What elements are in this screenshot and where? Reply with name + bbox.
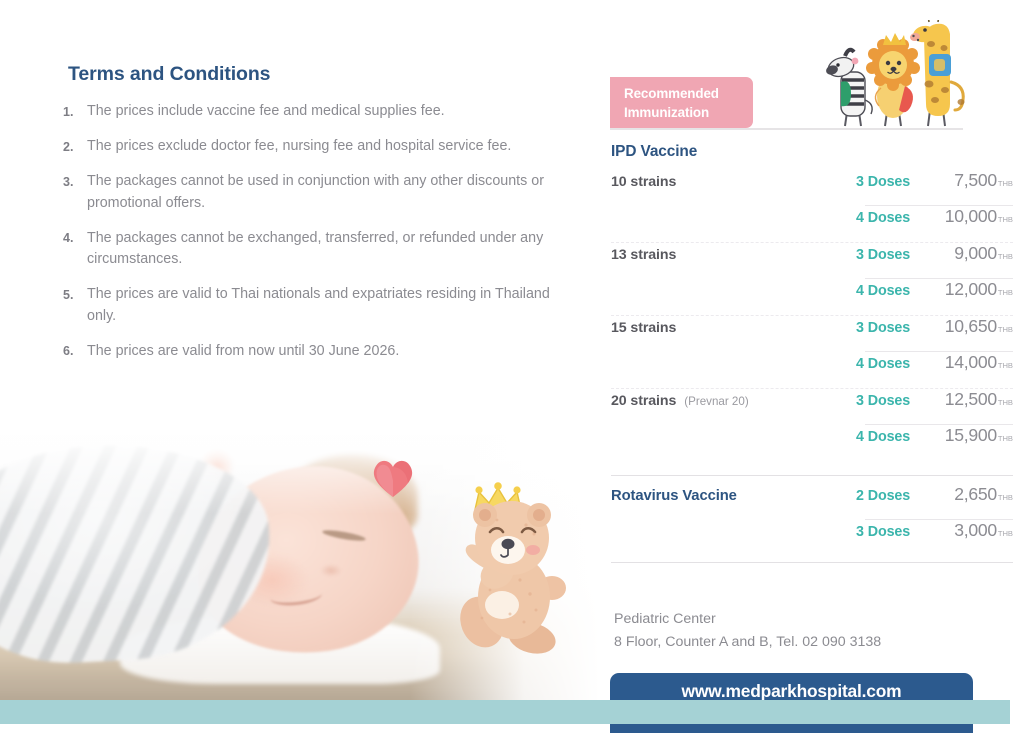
term-text: The prices include vaccine fee and medic…	[87, 101, 563, 123]
price-amount: 10,650THB	[936, 316, 1024, 337]
price-amount: 15,900THB	[936, 425, 1024, 446]
ipd-vaccine-title: IPD Vaccine	[611, 143, 697, 161]
contact-line-2: 8 Floor, Counter A and B, Tel. 02 090 31…	[614, 631, 881, 654]
badge-line-2: Immunization	[624, 103, 753, 122]
term-text: The packages cannot be exchanged, transf…	[87, 228, 563, 271]
price-row: 20 strains(Prevnar 20)3 Doses12,500THB	[600, 389, 1024, 425]
dose-count: 4 Doses	[856, 283, 936, 299]
page-title: Terms and Conditions	[68, 63, 270, 86]
price-amount: 14,000THB	[936, 352, 1024, 373]
currency-label: THB	[998, 179, 1013, 188]
price-row: 4 Doses10,000THB	[600, 206, 1024, 242]
dose-count: 4 Doses	[856, 429, 936, 445]
giraffe-illustration	[909, 20, 964, 126]
term-number: 1.	[63, 101, 87, 123]
vaccine-name: 20 strains	[611, 393, 676, 409]
term-number: 3.	[63, 171, 87, 193]
price-row: 4 Doses14,000THB	[600, 352, 1024, 388]
terms-panel: Terms and Conditions 1.The prices includ…	[0, 0, 600, 724]
vaccine-group: 10 strains3 Doses7,500THB4 Doses10,000TH…	[600, 170, 1024, 242]
term-item: 1.The prices include vaccine fee and med…	[63, 101, 563, 123]
price-value: 7,500	[954, 170, 997, 190]
term-item: 5.The prices are valid to Thai nationals…	[63, 284, 563, 327]
term-text: The prices are valid from now until 30 J…	[87, 341, 563, 363]
terms-list: 1.The prices include vaccine fee and med…	[63, 101, 563, 376]
animal-illustrations	[825, 20, 970, 130]
baby-nose	[320, 564, 342, 577]
term-text: The prices exclude doctor fee, nursing f…	[87, 136, 563, 158]
term-item: 2.The prices exclude doctor fee, nursing…	[63, 136, 563, 158]
price-value: 3,000	[954, 520, 997, 540]
badge-line-1: Recommended	[624, 84, 753, 103]
price-amount: 3,000THB	[936, 520, 1024, 541]
price-amount: 12,000THB	[936, 279, 1024, 300]
dose-count: 3 Doses	[856, 524, 936, 540]
price-value: 9,000	[954, 243, 997, 263]
price-amount: 10,000THB	[936, 206, 1024, 227]
price-value: 10,650	[945, 316, 997, 336]
term-text: The packages cannot be used in conjuncti…	[87, 171, 563, 214]
header-divider	[610, 128, 963, 130]
price-table: 10 strains3 Doses7,500THB4 Doses10,000TH…	[600, 170, 1024, 563]
currency-label: THB	[998, 215, 1013, 224]
price-row: 4 Doses12,000THB	[600, 279, 1024, 315]
price-value: 12,000	[945, 279, 997, 299]
price-value: 12,500	[945, 389, 997, 409]
recommended-immunization-badge: Recommended Immunization	[610, 77, 753, 128]
currency-label: THB	[998, 361, 1013, 370]
dose-count: 2 Doses	[856, 488, 936, 504]
currency-label: THB	[998, 434, 1013, 443]
price-row: 15 strains3 Doses10,650THB	[600, 316, 1024, 352]
currency-label: THB	[998, 252, 1013, 261]
rotavirus-group: Rotavirus Vaccine2 Doses2,650THB3 Doses3…	[600, 476, 1024, 556]
term-number: 4.	[63, 228, 87, 250]
price-row: 13 strains3 Doses9,000THB	[600, 243, 1024, 279]
currency-label: THB	[998, 493, 1013, 502]
price-amount: 2,650THB	[936, 484, 1024, 505]
vaccine-name: 15 strains	[611, 320, 676, 336]
contact-line-1: Pediatric Center	[614, 608, 881, 631]
term-item: 4.The packages cannot be exchanged, tran…	[63, 228, 563, 271]
teddy-bear-icon	[440, 470, 570, 670]
price-value: 14,000	[945, 352, 997, 372]
price-value: 10,000	[945, 206, 997, 226]
zebra-illustration	[825, 50, 872, 126]
section-divider-bottom	[611, 562, 1013, 563]
currency-label: THB	[998, 325, 1013, 334]
price-amount: 7,500THB	[936, 170, 1024, 191]
dose-count: 3 Doses	[856, 247, 936, 263]
price-amount: 9,000THB	[936, 243, 1024, 264]
dose-count: 3 Doses	[856, 320, 936, 336]
price-row: 4 Doses15,900THB	[600, 425, 1024, 461]
pricing-panel: Recommended Immunization IPD Vaccine 10 …	[600, 0, 1024, 724]
term-item: 6.The prices are valid from now until 30…	[63, 341, 563, 363]
vaccine-group: 13 strains3 Doses9,000THB4 Doses12,000TH…	[600, 243, 1024, 315]
heart-icon	[370, 457, 416, 499]
vaccine-name: 10 strains	[611, 174, 676, 190]
vaccine-name: Rotavirus Vaccine	[611, 488, 737, 504]
footer-strip	[0, 700, 1010, 724]
dose-count: 4 Doses	[856, 210, 936, 226]
lion-illustration	[866, 33, 920, 126]
vaccine-group: 20 strains(Prevnar 20)3 Doses12,500THB4 …	[600, 389, 1024, 461]
price-row: 10 strains3 Doses7,500THB	[600, 170, 1024, 206]
vaccine-group: 15 strains3 Doses10,650THB4 Doses14,000T…	[600, 316, 1024, 388]
price-row: 3 Doses3,000THB	[600, 520, 1024, 556]
price-value: 2,650	[954, 484, 997, 504]
dose-count: 4 Doses	[856, 356, 936, 372]
vaccine-subname: (Prevnar 20)	[684, 395, 748, 408]
term-item: 3.The packages cannot be used in conjunc…	[63, 171, 563, 214]
contact-block: Pediatric Center 8 Floor, Counter A and …	[614, 608, 881, 654]
term-number: 6.	[63, 341, 87, 363]
currency-label: THB	[998, 398, 1013, 407]
brochure-page: Terms and Conditions 1.The prices includ…	[0, 0, 1024, 724]
dose-count: 3 Doses	[856, 174, 936, 190]
term-text: The prices are valid to Thai nationals a…	[87, 284, 563, 327]
currency-label: THB	[998, 529, 1013, 538]
currency-label: THB	[998, 288, 1013, 297]
term-number: 5.	[63, 284, 87, 306]
dose-count: 3 Doses	[856, 393, 936, 409]
price-amount: 12,500THB	[936, 389, 1024, 410]
vaccine-name: 13 strains	[611, 247, 676, 263]
price-value: 15,900	[945, 425, 997, 445]
term-number: 2.	[63, 136, 87, 158]
price-row: Rotavirus Vaccine2 Doses2,650THB	[600, 484, 1024, 520]
